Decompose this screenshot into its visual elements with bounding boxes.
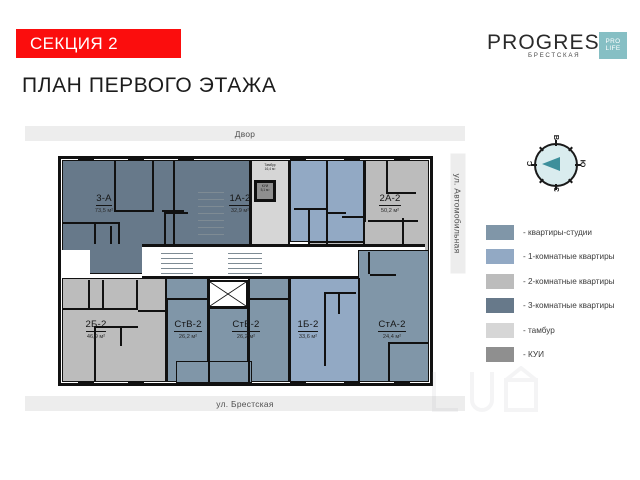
partition xyxy=(136,280,138,310)
column xyxy=(394,381,410,386)
column xyxy=(128,156,144,161)
partition xyxy=(94,224,96,244)
unit-label: 3-А 73,5 м² xyxy=(72,188,136,214)
legend-swatch xyxy=(486,323,514,338)
unit-code: СтБ-2 xyxy=(232,319,259,332)
column xyxy=(78,156,94,161)
stair-flight-left xyxy=(161,250,193,276)
partition xyxy=(288,160,290,245)
section-badge-label: СЕКЦИЯ 2 xyxy=(16,34,118,54)
partition xyxy=(168,298,208,300)
unit-area-text: 26,2 м² xyxy=(156,334,220,340)
legend-label: - тамбур xyxy=(523,326,555,335)
compass-tick-n xyxy=(555,140,557,146)
partition xyxy=(328,212,346,214)
partition xyxy=(326,160,328,208)
unit-code: 2А-2 xyxy=(379,193,400,206)
partition xyxy=(370,274,396,276)
partition xyxy=(62,222,118,224)
kui-area-text: 5,1 м² xyxy=(255,189,275,193)
stair-flight-right xyxy=(228,250,262,276)
partition xyxy=(138,310,166,312)
partition xyxy=(368,220,418,222)
unit-code: СтВ-2 xyxy=(174,319,201,332)
legend-label: - КУИ xyxy=(523,350,544,359)
street-label-right: ул. Автомобильная xyxy=(451,154,466,274)
section-badge: СЕКЦИЯ 2 xyxy=(16,29,181,58)
unit-label: 1Б-2 33,6 м² xyxy=(276,314,340,340)
legend-swatch xyxy=(486,249,514,264)
brand-logo: PROGRESS БРЕСТСКАЯ PRO LIFE xyxy=(487,31,627,65)
compass-needle-icon xyxy=(542,157,560,171)
corridor-west xyxy=(62,250,90,276)
partition xyxy=(62,308,138,310)
column xyxy=(394,156,410,161)
unit-code: 3-А xyxy=(96,193,112,206)
street-label-top: Двор xyxy=(25,126,465,141)
unit-code: СтА-2 xyxy=(378,319,405,332)
partition xyxy=(254,180,276,182)
unit-label: 2Б-2 46,9 м² xyxy=(64,314,128,340)
legend-item: - 1-комнатные квартиры xyxy=(486,249,636,265)
column xyxy=(128,381,144,386)
unit-area-text: 32,9 м² xyxy=(208,208,272,214)
partition xyxy=(88,280,90,310)
column xyxy=(344,381,360,386)
unit-area-text: 33,6 м² xyxy=(276,334,340,340)
page-title: ПЛАН ПЕРВОГО ЭТАЖА xyxy=(22,74,276,98)
kui-label: КУИ 5,1 м² xyxy=(255,185,275,192)
legend-item: - тамбур xyxy=(486,322,636,338)
unit-area-text: 73,5 м² xyxy=(72,208,136,214)
brand-subtitle: БРЕСТСКАЯ xyxy=(528,52,580,59)
partition xyxy=(118,222,120,244)
unit-label: СтВ-2 26,2 м² xyxy=(156,314,220,340)
unit-label: СтБ-2 26,2 м² xyxy=(214,314,278,340)
legend-label: - 3-комнатные квартиры xyxy=(523,301,615,310)
partition xyxy=(152,160,154,212)
partition xyxy=(164,212,166,244)
compass-label-east: В xyxy=(552,135,561,140)
legend-item: - 3-комнатные квартиры xyxy=(486,298,636,314)
legend-item: - КУИ xyxy=(486,347,636,363)
unit-code: 1А-2 xyxy=(229,193,250,206)
entrance-porch xyxy=(176,361,252,383)
legend-label: - квартиры-студии xyxy=(523,228,592,237)
unit-label: СтА-2 24,4 м² xyxy=(360,314,424,340)
partition xyxy=(294,208,328,210)
unit-label: 2А-2 50,2 м² xyxy=(358,188,422,214)
partition xyxy=(402,218,404,244)
street-label-bottom: ул. Брестская xyxy=(25,396,465,411)
unit-area-text: 50,2 м² xyxy=(358,208,422,214)
partition xyxy=(166,212,188,214)
floorplan-page: СЕКЦИЯ 2 ПЛАН ПЕРВОГО ЭТАЖА PROGRESS БРЕ… xyxy=(0,0,640,480)
column xyxy=(344,156,360,161)
partition xyxy=(110,226,112,244)
prolife-badge-line2: LIFE xyxy=(605,46,620,53)
partition xyxy=(250,298,288,300)
legend-item: - 2-комнатные квартиры xyxy=(486,273,636,289)
prolife-badge: PRO LIFE xyxy=(599,32,627,59)
watermark xyxy=(428,366,548,418)
unit-area-text: 24,4 м² xyxy=(360,334,424,340)
corridor-wall-top xyxy=(142,244,425,247)
legend-swatch xyxy=(486,274,514,289)
unit-code: 1Б-2 xyxy=(298,319,319,332)
partition xyxy=(388,342,428,344)
elevator-shaft xyxy=(208,280,248,308)
tambur-label: Тамбур 16,4 м² xyxy=(250,164,290,171)
legend-label: - 1-комнатные квартиры xyxy=(523,252,615,261)
column xyxy=(290,156,306,161)
column xyxy=(78,381,94,386)
partition xyxy=(326,292,356,294)
partition xyxy=(368,252,370,274)
legend-item: - квартиры-студии xyxy=(486,224,636,240)
legend-label: - 2-комнатные квартиры xyxy=(523,277,615,286)
partition xyxy=(338,294,340,314)
compass-rose: С В Ю З xyxy=(528,137,584,193)
compass-label-south: Ю xyxy=(578,160,587,168)
legend-swatch xyxy=(486,347,514,362)
unit-code: 2Б-2 xyxy=(86,319,107,332)
legend: - квартиры-студии - 1-комнатные квартиры… xyxy=(486,224,636,371)
column xyxy=(290,381,306,386)
legend-swatch xyxy=(486,225,514,240)
street-label-bottom-text: ул. Брестская xyxy=(216,399,273,409)
partition xyxy=(388,342,390,382)
compass-label-west: З xyxy=(552,187,561,192)
compass-label-north: С xyxy=(525,161,534,166)
street-label-top-text: Двор xyxy=(235,129,256,139)
unit-area-text: 46,9 м² xyxy=(64,334,128,340)
street-label-right-text: ул. Автомобильная xyxy=(453,174,463,254)
tambur-area-text: 16,4 м² xyxy=(250,168,290,172)
partition xyxy=(102,280,104,310)
legend-swatch xyxy=(486,298,514,313)
partition xyxy=(342,216,366,218)
partition xyxy=(326,210,328,244)
floor-plan: 3-А 73,5 м² 1А-2 32,9 м² 2А-2 50,2 м² 2Б… xyxy=(58,156,433,386)
unit-area-text: 26,2 м² xyxy=(214,334,278,340)
column xyxy=(178,156,194,161)
partition xyxy=(308,208,310,244)
